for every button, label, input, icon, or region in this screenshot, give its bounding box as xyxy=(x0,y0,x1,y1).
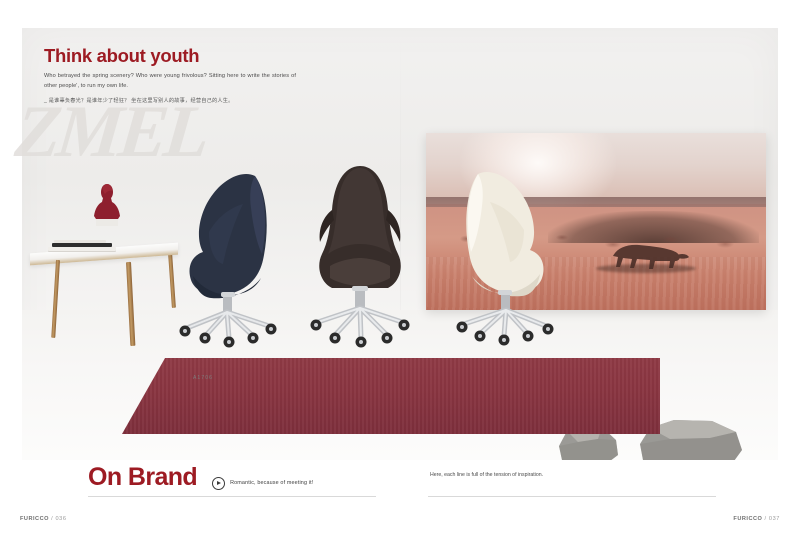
lion-silhouette-icon xyxy=(603,234,691,276)
book-stack xyxy=(48,240,120,252)
table-leg-left xyxy=(51,260,60,338)
book-top xyxy=(54,240,106,243)
brand-heading-row: On Brand Romantic, because of meeting it… xyxy=(88,465,313,491)
catalog-spread: ZMEL Think about youth Who betrayed the … xyxy=(0,0,800,540)
footer-band: On Brand Romantic, because of meeting it… xyxy=(0,460,800,540)
chair-cream xyxy=(446,166,556,348)
inspiration-note: Here, each line is full of the tension o… xyxy=(430,470,610,481)
divider-left xyxy=(88,496,376,497)
page-footer-right: FURICCO / 037 xyxy=(733,516,780,522)
table-leg-back xyxy=(168,252,176,308)
book-bottom xyxy=(48,247,116,251)
book-middle xyxy=(52,243,112,247)
chair-navy xyxy=(177,168,287,348)
product-code-label: A1706 xyxy=(193,375,213,381)
play-circle-icon xyxy=(212,477,225,490)
brand-tagline: Romantic, because of meeting it! xyxy=(230,480,313,486)
table-leg-right xyxy=(126,262,135,346)
page-title: Think about youth xyxy=(44,46,344,66)
footer-brand-left: FURICCO xyxy=(20,516,49,522)
brand-tagline-group: Romantic, because of meeting it! xyxy=(207,477,313,490)
headline-block: Think about youth Who betrayed the sprin… xyxy=(44,46,344,105)
red-bust-sculpture xyxy=(92,182,122,226)
product-scene-photo xyxy=(22,120,778,460)
footer-brand-right: FURICCO xyxy=(733,516,762,522)
page-footer-left: FURICCO / 036 xyxy=(20,516,67,522)
chair-brown xyxy=(304,162,416,348)
headline-lead-en: Who betrayed the spring scenery? Who wer… xyxy=(44,72,296,92)
headline-lead-cn: _ 是谁辜负春光？是谁年少了轻狂？ 坐在这里写别人的故事，经营自己的人生。 xyxy=(44,97,296,105)
page-number-right: 037 xyxy=(769,516,780,522)
brand-title: On Brand xyxy=(88,465,197,490)
area-rug xyxy=(122,358,660,434)
divider-right xyxy=(428,496,716,497)
page-number-left: 036 xyxy=(55,516,66,522)
wood-table xyxy=(30,220,180,350)
